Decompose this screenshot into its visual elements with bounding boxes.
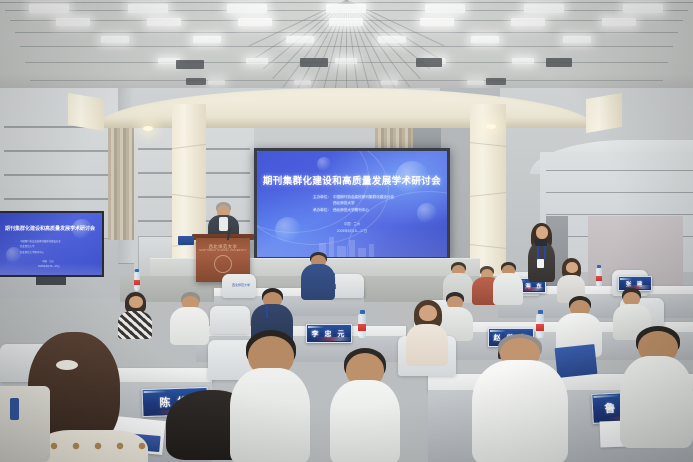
camera-phone-icon [535,239,547,246]
conference-hall-photo: 期刊集群化建设和高质量发展学术研讨会 主办单位： 中国期刊协会高校期刊集群化建设… [0,0,693,462]
audience-person [300,252,336,300]
soffit-left-end [68,93,104,131]
water-bottle [596,268,602,287]
podium-institution-latin: NORTHWEST NORMAL UNIVERSITY [196,250,250,252]
side-monitor-surface: 期刊集群化建设和高质量发展学术研讨会 中国期刊协会高校期刊集群化建设分会 西北师… [0,213,102,275]
screen-host-label: 主办单位： [313,195,331,200]
foreground-person [330,348,400,462]
side-monitor-title: 期刊集群化建设和高质量发展学术研讨会 [0,225,102,232]
audience-person [492,262,524,304]
monitor-stand [36,277,66,285]
main-projection-screen[interactable]: 期刊集群化建设和高质量发展学术研讨会 主办单位： 中国期刊协会高校期刊集群化建设… [254,148,450,260]
folded-chair[interactable] [0,386,50,462]
side-monitor-organizer: 西北师范大学期刊中心 [20,250,44,254]
side-monitor-host-1: 中国期刊协会高校期刊集群化建设分会 [20,239,61,243]
foreground-woman-blouse [36,430,148,462]
foreground-person [230,330,310,462]
foreground-person [472,334,568,462]
placard: 李 忠 元 [306,324,352,343]
photographer [524,222,558,284]
screen-host-2: 西北师范大学 [333,201,355,206]
curtain-left [108,122,134,240]
screen-skyline-graphic [257,227,447,257]
audience-person [170,292,210,344]
screen-surface: 期刊集群化建设和高质量发展学术研讨会 主办单位： 中国期刊协会高校期刊集群化建设… [257,151,447,257]
audience-person [404,300,450,364]
water-bottle [358,314,366,338]
badge [537,259,544,268]
water-bottle [134,272,140,291]
downlight-left [143,126,153,131]
screen-organizer-1: 西北师范大学期刊中心 [333,208,369,213]
screen-host-1: 中国期刊协会高校期刊集群化建设分会 [333,195,394,200]
screen-title: 期刊集群化建设和高质量发展学术研讨会 [257,173,447,187]
university-seal-icon [214,255,232,273]
foreground-person [620,326,693,446]
podium-name-card [178,236,194,245]
side-monitor-host-2: 西北师范大学 [20,244,34,248]
soffit-right-end [586,93,622,133]
hair-clip [56,360,78,370]
side-monitor[interactable]: 期刊集群化建设和高质量发展学术研讨会 中国期刊协会高校期刊集群化建设分会 西北师… [0,211,104,277]
chair-logo: 西北师范大学 [232,283,250,287]
screen-place: 中国 · 兰州 [257,221,447,226]
downlight-right [486,124,496,129]
screen-organizer-label: 承办单位： [313,208,331,213]
chair-strap [10,398,19,420]
